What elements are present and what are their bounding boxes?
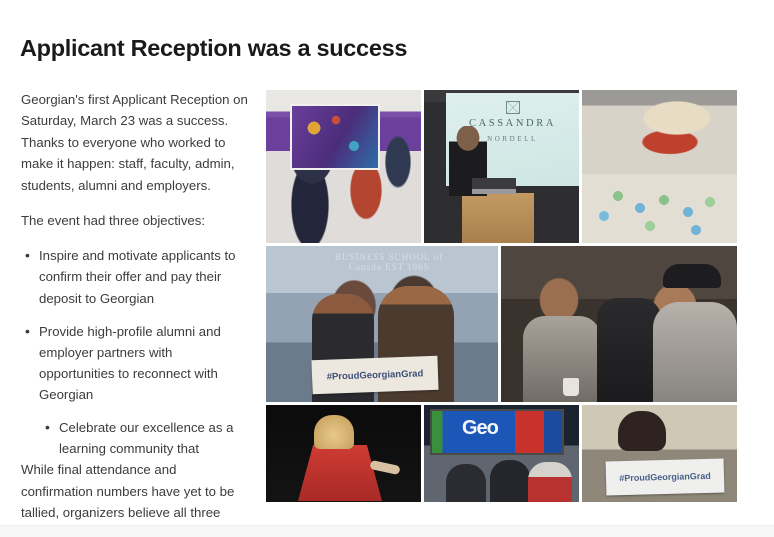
hashtag-sign: #ProudGeorgianGrad bbox=[606, 458, 725, 495]
audience-head-1 bbox=[446, 464, 486, 502]
hashtag-sign-text: #ProudGeorgianGrad bbox=[327, 368, 424, 382]
baseball-cap bbox=[663, 264, 721, 288]
coffee-cup bbox=[563, 378, 579, 396]
dessert-table-photo bbox=[582, 90, 737, 243]
hashtag-sign: #ProudGeorgianGrad bbox=[311, 356, 438, 394]
guest-figure-1 bbox=[523, 316, 601, 402]
photo-collage: CASSANDRA NORDELL BUSINESS SCHOOL of Can… bbox=[266, 90, 737, 502]
objective-1-text: Inspire and motivate applicants to confi… bbox=[39, 248, 235, 305]
collage-row-3: Geo #ProudGeorgianGrad bbox=[266, 405, 737, 502]
woman-hair bbox=[618, 411, 666, 451]
stage-speaker-photo bbox=[266, 405, 421, 502]
networking-guests-photo bbox=[501, 246, 737, 402]
cadet-and-students-photo bbox=[266, 90, 421, 243]
proud-grad-couple-photo: BUSINESS SCHOOL of Canada EST 1965 #Prou… bbox=[266, 246, 498, 402]
objective-2-text: Provide high-profile alumni and employer… bbox=[39, 324, 221, 402]
laptop bbox=[472, 178, 516, 194]
hashtag-sign-text: #ProudGeorgianGrad bbox=[619, 471, 711, 483]
photo-image bbox=[582, 90, 737, 243]
audience-screen-photo: Geo bbox=[424, 405, 579, 502]
page-bottom-strip bbox=[0, 525, 774, 537]
article-page: Applicant Reception was a success Georgi… bbox=[0, 0, 774, 537]
list-item: Celebrate our excellence as a learning c… bbox=[21, 417, 249, 459]
diamond-logo-icon bbox=[506, 101, 520, 114]
screen-brand-text: Geo bbox=[462, 417, 498, 440]
page-title: Applicant Reception was a success bbox=[20, 34, 720, 63]
article-text-column: Georgian's first Applicant Reception on … bbox=[21, 89, 249, 537]
proud-grad-woman-photo: #ProudGeorgianGrad bbox=[582, 405, 737, 502]
projection-screen: Geo bbox=[430, 409, 564, 455]
audience-head-3 bbox=[528, 462, 572, 502]
list-item: Provide high-profile alumni and employer… bbox=[21, 321, 249, 406]
list-item: Inspire and motivate applicants to confi… bbox=[21, 245, 249, 308]
guest-figure-3 bbox=[653, 302, 737, 402]
keynote-speaker-photo: CASSANDRA NORDELL bbox=[424, 90, 579, 243]
podium bbox=[462, 193, 534, 243]
objectives-list: Inspire and motivate applicants to confi… bbox=[21, 245, 249, 459]
collage-row-1: CASSANDRA NORDELL bbox=[266, 90, 737, 243]
intro-paragraph: Georgian's first Applicant Reception on … bbox=[21, 89, 249, 196]
objective-3-text: Celebrate our excellence as a learning c… bbox=[59, 420, 233, 456]
mural-artwork bbox=[290, 104, 380, 170]
guest-figure-2 bbox=[597, 298, 661, 402]
audience-head-2 bbox=[490, 460, 530, 502]
collage-row-2: BUSINESS SCHOOL of Canada EST 1965 #Prou… bbox=[266, 246, 737, 402]
speaker-hair bbox=[314, 415, 354, 449]
objectives-lead: The event had three objectives: bbox=[21, 210, 249, 231]
backdrop-text: BUSINESS SCHOOL of Canada EST 1965 bbox=[324, 252, 454, 272]
